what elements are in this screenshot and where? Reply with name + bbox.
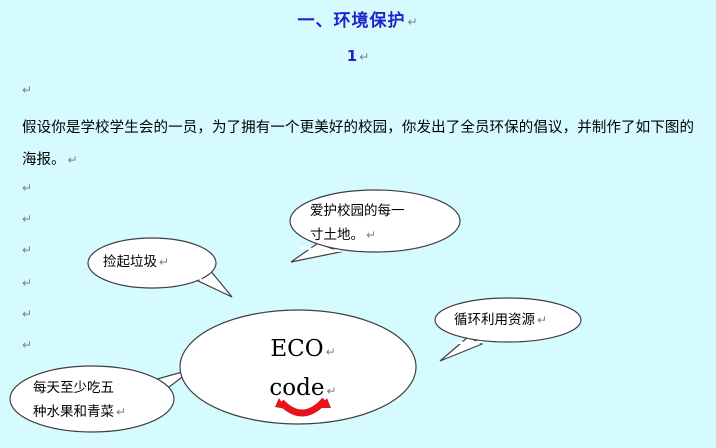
bubble-eat-five-fruits-label: 每天至少吃五 种水果和青菜↵: [33, 376, 173, 424]
bubble-pick-up-trash-label-text: 捡起垃圾: [103, 254, 157, 270]
bubble-pick-up-trash-label: 捡起垃圾↵: [103, 250, 233, 274]
document-page: 一、环境保护↵ 1↵ ↵ ↵ ↵ ↵ ↵ ↵ ↵ 假设你是学校学生会的一员，为了…: [0, 0, 716, 448]
bubble-care-campus-label-text: 爱护校园的每一 寸土地。: [310, 203, 405, 243]
bubble-recycle-resources-tail-join: [455, 342, 482, 343]
code-label-text: code: [269, 375, 324, 401]
poster-drawing: 爱护校园的每一 寸土地。↵ 捡起垃圾↵ 循环利用资源↵ 每天至少吃五 种水果和青…: [0, 0, 716, 448]
bubble-recycle-resources-tail: [440, 337, 482, 361]
bubble-care-campus-label: 爱护校园的每一 寸土地。↵: [310, 199, 460, 247]
pilcrow-mark-code: ↵: [327, 384, 337, 398]
pilcrow-mark-bubble-4: ↵: [116, 405, 126, 419]
pilcrow-mark-bubble-2: ↵: [159, 255, 169, 269]
pilcrow-mark-eco: ↵: [326, 345, 336, 359]
code-label: code↵: [238, 366, 368, 413]
pilcrow-mark-bubble-3: ↵: [537, 313, 547, 327]
bubble-eat-five-fruits-label-text: 每天至少吃五 种水果和青菜: [33, 380, 114, 420]
pilcrow-mark-bubble-1: ↵: [366, 228, 376, 242]
eco-label-text: ECO: [270, 336, 323, 362]
bubble-recycle-resources-label: 循环利用资源↵: [454, 308, 594, 332]
bubble-recycle-resources-label-text: 循环利用资源: [454, 312, 535, 328]
